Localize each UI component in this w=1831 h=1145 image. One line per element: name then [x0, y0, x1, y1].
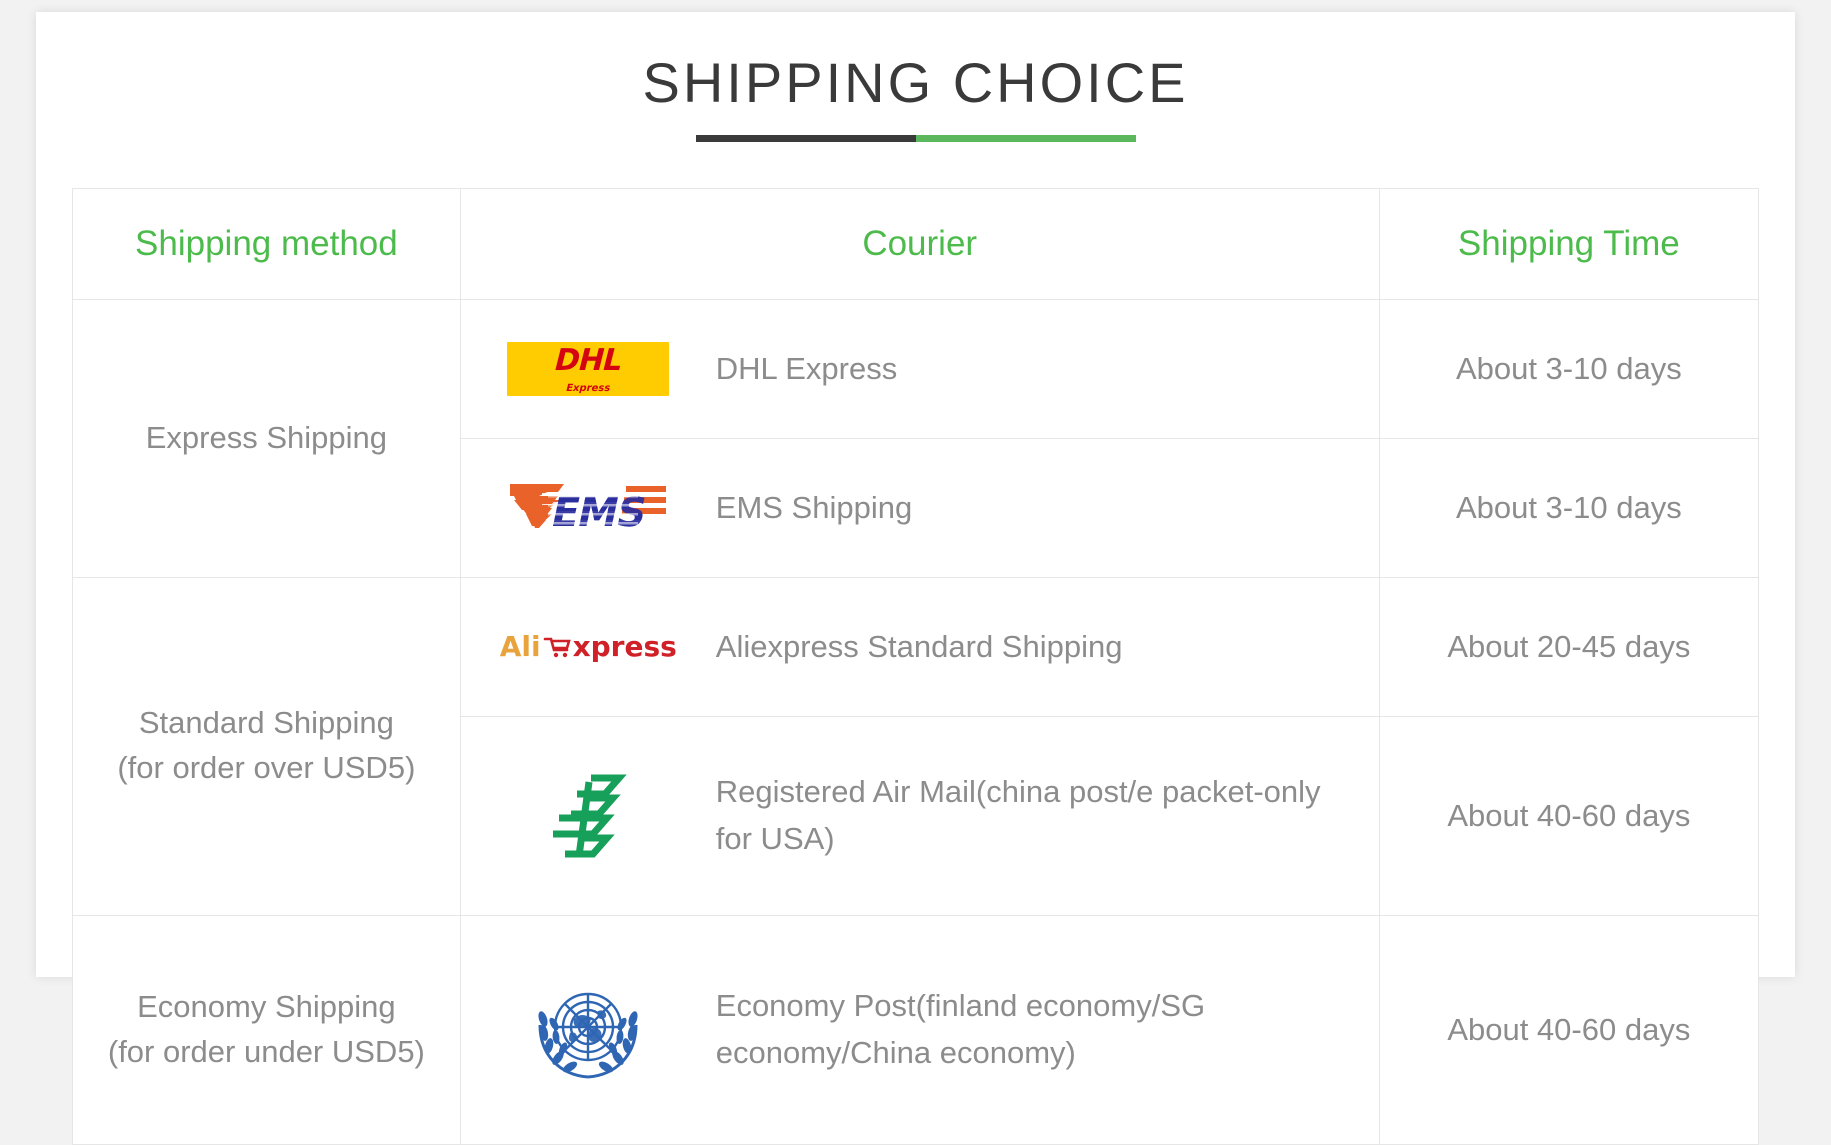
shipping-time-cell: About 3-10 days	[1379, 299, 1758, 438]
rule-segment-green	[916, 135, 1136, 142]
shipping-time-cell: About 20-45 days	[1379, 577, 1758, 716]
courier-cell: DHL Express DHL Express	[460, 299, 1379, 438]
dhl-logo-subtext: Express	[565, 384, 612, 394]
dhl-logo-wordmark: DHL	[551, 346, 625, 376]
rule-segment-dark	[696, 135, 916, 142]
courier-cell: Ali xpress	[460, 577, 1379, 716]
shipping-method-note: (for order under USD5)	[81, 1030, 452, 1075]
courier-name: Registered Air Mail(china post/e packet-…	[716, 769, 1379, 862]
shipping-method-note: (for order over USD5)	[81, 746, 452, 791]
table-header: Shipping method Courier Shipping Time	[73, 188, 1759, 299]
courier-cell: Registered Air Mail(china post/e packet-…	[460, 716, 1379, 915]
courier-logo-slot: Ali xpress	[461, 633, 716, 661]
courier-logo-slot	[461, 768, 716, 864]
aliexpress-logo-ali-text: Ali	[500, 633, 541, 661]
ems-logo: EMS	[508, 476, 668, 540]
courier-name: Aliexpress Standard Shipping	[716, 624, 1141, 671]
table-row: Economy Shipping (for order under USD5)	[73, 915, 1759, 1144]
aliexpress-logo-xpress-text: xpress	[573, 633, 677, 661]
aliexpress-logo: Ali xpress	[500, 633, 677, 661]
table-header-row: Shipping method Courier Shipping Time	[73, 188, 1759, 299]
courier-cell: Economy Post(finland economy/SG economy/…	[460, 915, 1379, 1144]
table-row: Express Shipping DHL Express DHL Express	[73, 299, 1759, 438]
shipping-time-cell: About 3-10 days	[1379, 438, 1758, 577]
shipping-table-wrap: Shipping method Courier Shipping Time Ex…	[72, 188, 1759, 1145]
shipping-method-title: Express Shipping	[146, 420, 387, 455]
courier-logo-slot: DHL Express	[461, 342, 716, 396]
shipping-method-title: Economy Shipping	[137, 989, 396, 1024]
un-emblem-logo	[530, 977, 646, 1083]
courier-cell: EMS	[460, 438, 1379, 577]
shipping-time-cell: About 40-60 days	[1379, 716, 1758, 915]
shipping-table: Shipping method Courier Shipping Time Ex…	[72, 188, 1759, 1145]
shipping-method-cell: Economy Shipping (for order under USD5)	[73, 915, 461, 1144]
table-body: Express Shipping DHL Express DHL Express	[73, 299, 1759, 1144]
shipping-info-card: SHIPPING CHOICE Shipping method Courier …	[36, 12, 1795, 977]
column-header-courier: Courier	[460, 188, 1379, 299]
shipping-method-title: Standard Shipping	[139, 705, 394, 740]
title-block: SHIPPING CHOICE	[36, 12, 1795, 142]
china-post-logo	[545, 768, 631, 864]
column-header-shipping-time: Shipping Time	[1379, 188, 1758, 299]
dhl-logo: DHL Express	[507, 342, 669, 396]
shopping-cart-icon	[542, 634, 572, 660]
title-underline-rule	[696, 135, 1136, 142]
courier-name: EMS Shipping	[716, 485, 930, 532]
courier-name: DHL Express	[716, 346, 915, 393]
courier-logo-slot: EMS	[461, 476, 716, 540]
shipping-method-cell: Standard Shipping (for order over USD5)	[73, 577, 461, 915]
page-title: SHIPPING CHOICE	[36, 54, 1795, 113]
table-row: Standard Shipping (for order over USD5) …	[73, 577, 1759, 716]
courier-name: Economy Post(finland economy/SG economy/…	[716, 983, 1379, 1076]
shipping-time-cell: About 40-60 days	[1379, 915, 1758, 1144]
shipping-method-cell: Express Shipping	[73, 299, 461, 577]
column-header-shipping-method: Shipping method	[73, 188, 461, 299]
courier-logo-slot	[461, 977, 716, 1083]
